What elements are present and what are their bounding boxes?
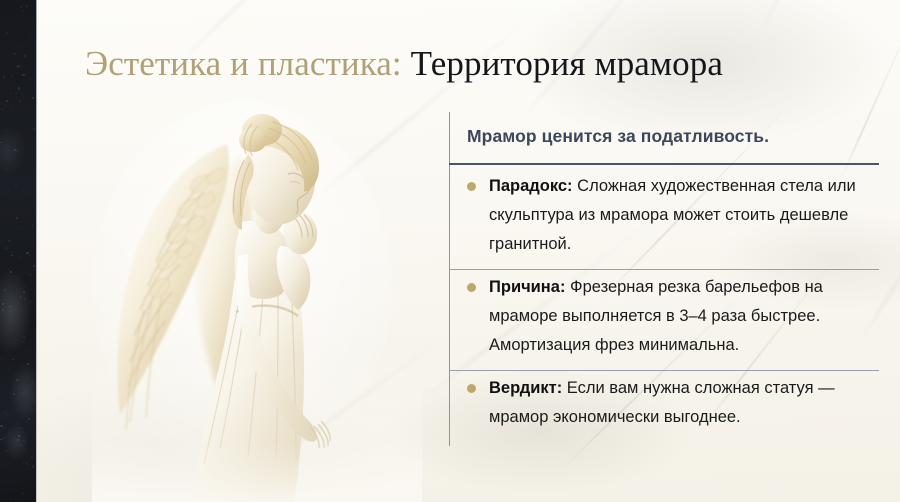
granite-accent-strip — [0, 0, 36, 502]
slide-root: Эстетика и пластика: Территория мрамора — [0, 0, 900, 502]
bullet-dot-icon — [467, 384, 476, 393]
bullet-dot-icon — [467, 283, 476, 292]
page-title-accent: Эстетика и пластика: — [85, 44, 402, 83]
list-item-label: Вердикт: — [489, 379, 562, 397]
list-item: Вердикт: Если вам нужна сложная статуя —… — [467, 374, 893, 432]
panel-heading-divider — [449, 163, 879, 165]
list-item-label: Причина: — [489, 278, 565, 296]
bullet-divider-1 — [449, 269, 879, 270]
panel-heading: Мрамор ценится за податливость. — [467, 126, 769, 147]
granite-edge-line — [36, 0, 37, 502]
list-item-label: Парадокс: — [489, 177, 573, 195]
page-title-main: Территория мрамора — [402, 44, 723, 83]
marble-angel-sculpture-image — [92, 96, 422, 502]
list-item: Причина: Фрезерная резка барельефов на м… — [467, 273, 893, 360]
content-panel: Мрамор ценится за податливость. Парадокс… — [449, 112, 879, 446]
bullet-divider-2 — [449, 370, 879, 371]
list-item: Парадокс: Сложная художественная стела и… — [467, 172, 893, 259]
page-title: Эстетика и пластика: Территория мрамора — [85, 42, 723, 86]
bullet-dot-icon — [467, 182, 476, 191]
